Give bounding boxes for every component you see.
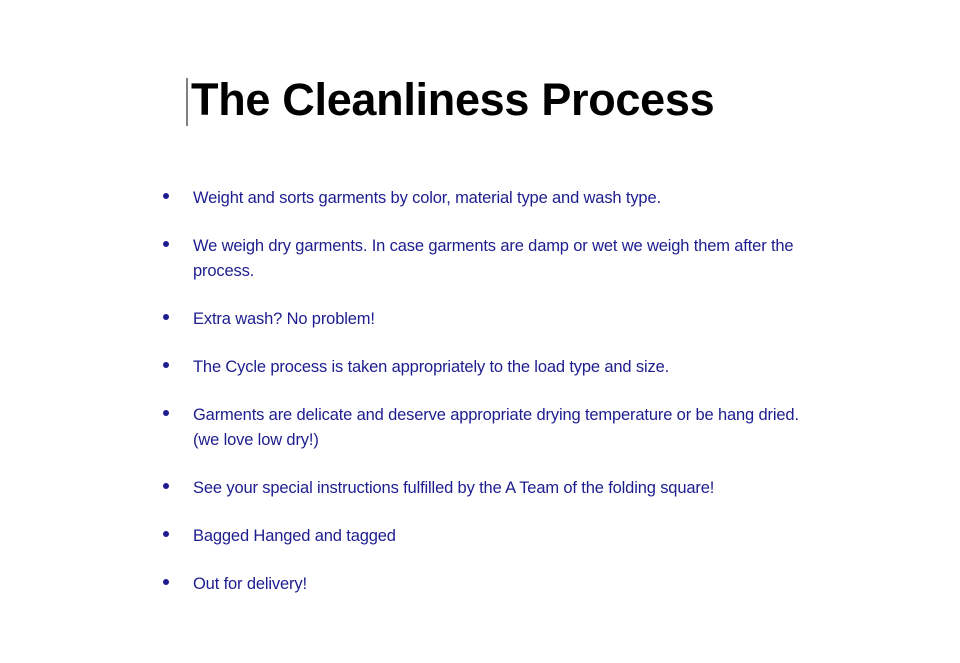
text-cursor-caret bbox=[186, 78, 188, 126]
round-bullet-icon bbox=[163, 241, 169, 247]
bullet-list: Weight and sorts garments by color, mate… bbox=[160, 186, 820, 597]
list-item[interactable]: The Cycle process is taken appropriately… bbox=[160, 355, 820, 380]
round-bullet-icon bbox=[163, 362, 169, 368]
list-item[interactable]: Weight and sorts garments by color, mate… bbox=[160, 186, 820, 211]
list-item-text: Weight and sorts garments by color, mate… bbox=[193, 186, 808, 211]
list-item[interactable]: Extra wash? No problem! bbox=[160, 307, 820, 332]
slide-canvas: The Cleanliness Process Weight and sorts… bbox=[0, 0, 960, 663]
round-bullet-icon bbox=[163, 314, 169, 320]
list-item-text: Out for delivery! bbox=[193, 572, 808, 597]
list-item[interactable]: Bagged Hanged and tagged bbox=[160, 524, 820, 549]
list-item-text: Garments are delicate and deserve approp… bbox=[193, 403, 808, 453]
round-bullet-icon bbox=[163, 483, 169, 489]
page-title[interactable]: The Cleanliness Process bbox=[191, 72, 714, 128]
list-item[interactable]: Out for delivery! bbox=[160, 572, 820, 597]
list-item[interactable]: We weigh dry garments. In case garments … bbox=[160, 234, 820, 284]
list-item-text: We weigh dry garments. In case garments … bbox=[193, 234, 808, 284]
list-item-text: See your special instructions fulfilled … bbox=[193, 476, 808, 501]
list-item[interactable]: Garments are delicate and deserve approp… bbox=[160, 403, 820, 453]
list-item[interactable]: See your special instructions fulfilled … bbox=[160, 476, 820, 501]
slide-title-block[interactable]: The Cleanliness Process bbox=[186, 72, 886, 130]
list-item-text: The Cycle process is taken appropriately… bbox=[193, 355, 808, 380]
round-bullet-icon bbox=[163, 531, 169, 537]
round-bullet-icon bbox=[163, 193, 169, 199]
list-item-text: Bagged Hanged and tagged bbox=[193, 524, 808, 549]
round-bullet-icon bbox=[163, 579, 169, 585]
round-bullet-icon bbox=[163, 410, 169, 416]
list-item-text: Extra wash? No problem! bbox=[193, 307, 808, 332]
